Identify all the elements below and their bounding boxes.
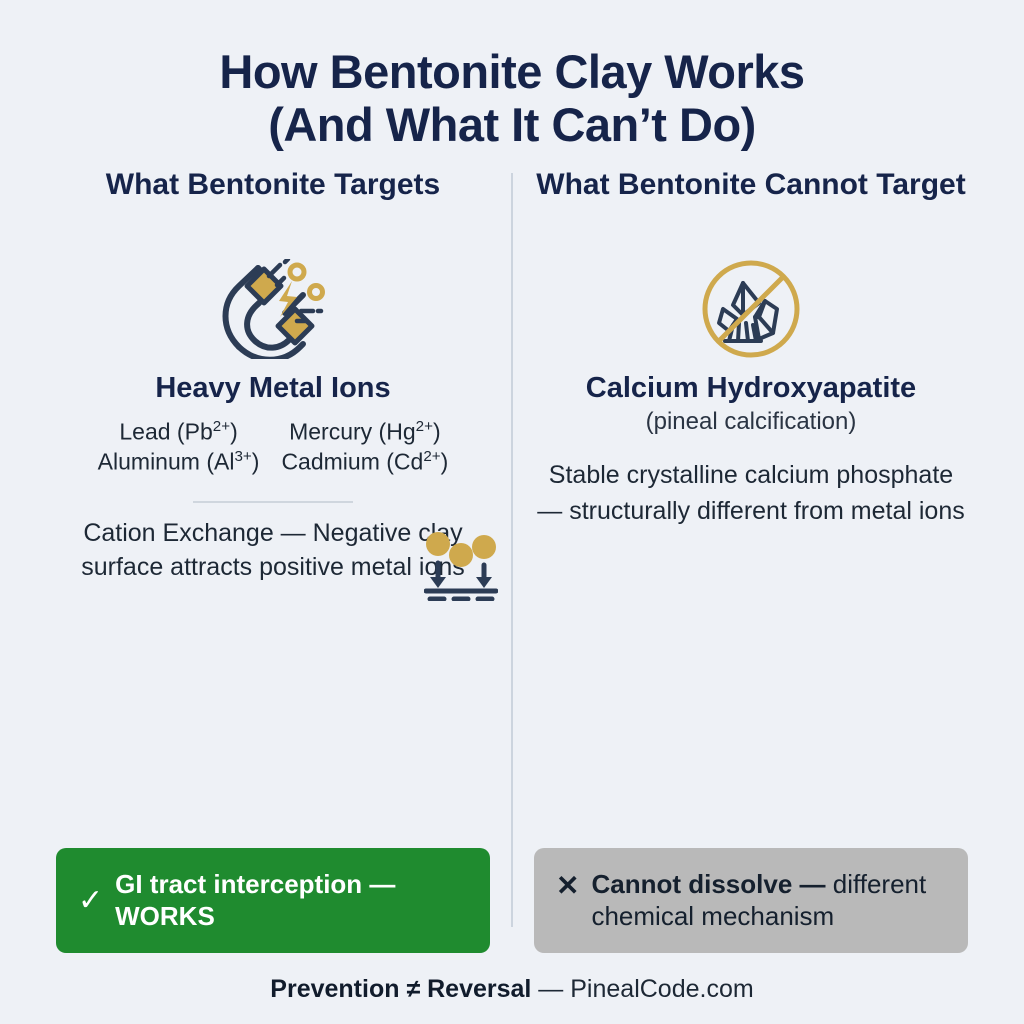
magnet-icon <box>217 257 329 361</box>
ion-charge: 2+ <box>423 448 440 465</box>
ion-name: Mercury <box>289 419 372 445</box>
ion-list: Lead (Pb2+) Mercury (Hg2+) Aluminum (Al3… <box>98 418 449 475</box>
title-line-2: (And What It Can’t Do) <box>34 99 990 152</box>
ion-formula: Hg <box>386 419 415 445</box>
no-crystal-icon <box>699 257 803 361</box>
cation-exchange-icon <box>424 531 498 610</box>
ion-name: Cadmium <box>281 448 379 474</box>
right-description: Stable crystalline calcium phosphate — s… <box>534 458 968 529</box>
right-column-heading: What Bentonite Cannot Target <box>536 167 965 253</box>
right-subject-note: (pineal calcification) <box>646 408 857 436</box>
ion-charge: 2+ <box>416 418 433 435</box>
works-banner: ✓ GI tract interception — WORKS <box>56 848 490 954</box>
cannot-banner-text: Cannot dissolve — different chemical mec… <box>591 868 946 934</box>
close-icon: ✕ <box>556 868 579 903</box>
infographic-canvas: How Bentonite Clay Works (And What It Ca… <box>0 0 1024 1024</box>
ion-charge: 3+ <box>234 448 251 465</box>
footer-rest: — PinealCode.com <box>531 975 753 1003</box>
mechanism-text: Cation Exchange — Negative clay surface … <box>81 519 465 580</box>
check-icon: ✓ <box>78 882 103 920</box>
section-divider <box>193 501 353 503</box>
column-targets: What Bentonite Targets <box>34 167 512 953</box>
cannot-banner-bold: Cannot dissolve — <box>591 869 825 899</box>
column-cannot-target: What Bentonite Cannot Target <box>512 167 990 953</box>
column-divider <box>511 173 513 927</box>
works-banner-text: GI tract interception — WORKS <box>115 868 468 934</box>
comparison-columns: What Bentonite Targets <box>34 167 990 953</box>
footer: Prevention ≠ Reversal — PinealCode.com <box>34 953 990 1004</box>
page-title: How Bentonite Clay Works (And What It Ca… <box>34 46 990 151</box>
footer-bold: Prevention ≠ Reversal <box>270 975 531 1003</box>
ion-formula: Al <box>214 448 234 474</box>
ion-formula: Cd <box>394 448 423 474</box>
ion-charge: 2+ <box>213 418 230 435</box>
right-subject: Calcium Hydroxyapatite <box>586 371 916 406</box>
ion-item: Aluminum (Al3+) <box>98 448 260 476</box>
cation-exchange-block: Cation Exchange — Negative clay surface … <box>56 517 490 584</box>
cannot-banner: ✕ Cannot dissolve — different chemical m… <box>534 848 968 954</box>
ion-item: Cadmium (Cd2+) <box>281 448 448 476</box>
ion-name: Aluminum <box>98 448 200 474</box>
ion-item: Lead (Pb2+) <box>98 418 260 446</box>
ion-name: Lead <box>119 419 170 445</box>
title-line-1: How Bentonite Clay Works <box>219 45 804 98</box>
left-column-heading: What Bentonite Targets <box>106 167 440 253</box>
ion-formula: Pb <box>185 419 213 445</box>
left-subject: Heavy Metal Ions <box>155 371 390 406</box>
ion-item: Mercury (Hg2+) <box>281 418 448 446</box>
